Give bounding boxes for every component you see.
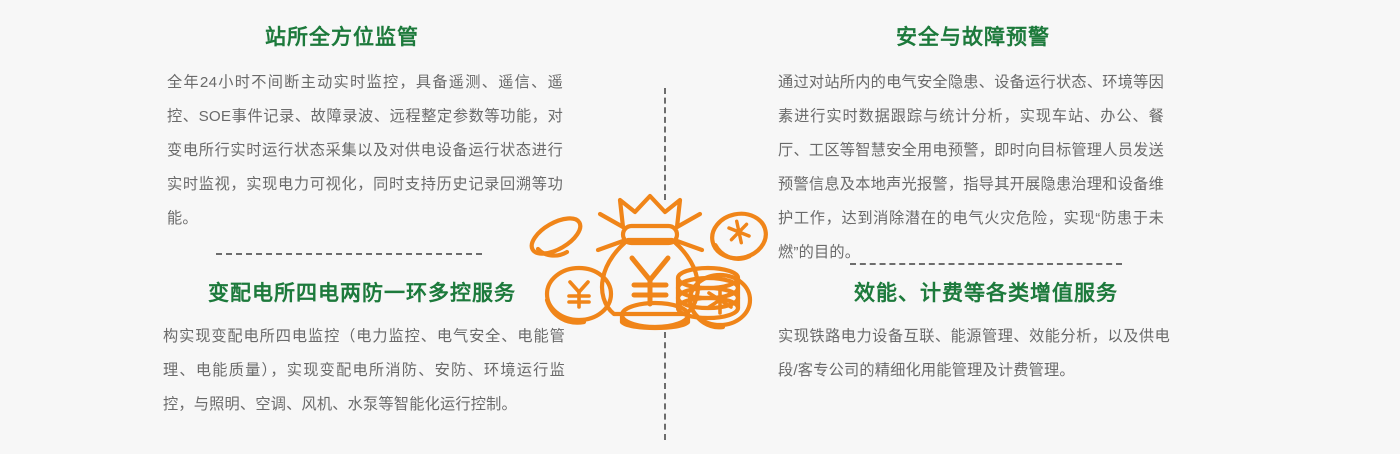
section-title-substation-service: 变配电所四电两防一环多控服务 xyxy=(208,283,516,304)
feature-panel: 站所全方位监管 全年24小时不间断主动实时监控，具备遥测、遥信、遥控、SOE事件… xyxy=(0,0,1400,454)
section-body-station-supervision: 全年24小时不间断主动实时监控，具备遥测、遥信、遥控、SOE事件记录、故障录波、… xyxy=(167,66,563,236)
right-section-divider xyxy=(850,263,1122,265)
money-bag-with-coins-illustration xyxy=(524,188,772,332)
left-section-divider xyxy=(216,253,482,255)
section-title-safety-alarm: 安全与故障预警 xyxy=(896,27,1050,48)
yen-symbol-on-bag xyxy=(632,258,668,304)
section-title-value-added-service: 效能、计费等各类增值服务 xyxy=(854,283,1118,304)
section-body-substation-service: 构实现变配电所四电监控（电力监控、电气安全、电能管理、电能质量），实现变配电所消… xyxy=(163,320,565,422)
center-divider-top xyxy=(664,88,666,200)
right-column: 安全与故障预警 通过对站所内的电气安全隐患、设备运行状态、环境等因素进行实时数据… xyxy=(762,0,1242,454)
coin-top-right xyxy=(708,209,770,264)
coin-flying-left xyxy=(526,211,586,261)
section-title-station-supervision: 站所全方位监管 xyxy=(265,27,419,48)
section-body-value-added-service: 实现铁路电力设备互联、能源管理、效能分析，以及供电段/客专公司的精细化用能管理及… xyxy=(778,320,1170,388)
section-body-safety-alarm: 通过对站所内的电气安全隐患、设备运行状态、环境等因素进行实时数据跟踪与统计分析，… xyxy=(778,66,1164,270)
coin-front-right xyxy=(690,275,750,327)
money-bag-crown xyxy=(620,196,680,227)
money-bag-tie xyxy=(598,214,702,250)
center-divider-bottom xyxy=(664,332,666,440)
